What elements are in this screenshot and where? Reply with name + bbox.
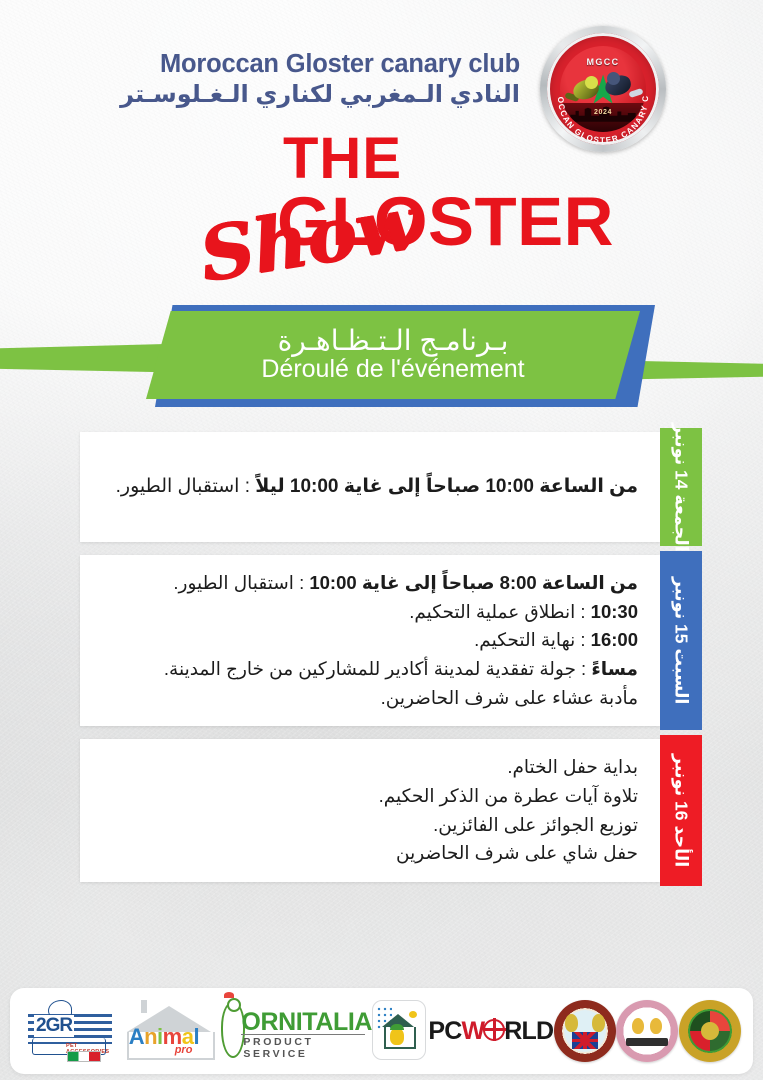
club-name-arabic: النادي الـمغربي لكناري الـغـلوسـتر	[120, 80, 520, 109]
program-banner: بـرنامـج الـتـظـاهـرة Déroulé de l'événe…	[0, 297, 763, 413]
pethouse-dog-icon	[390, 1028, 404, 1045]
animal-letter: n	[144, 1024, 157, 1049]
banner-title-arabic: بـرنامـج الـتـظـاهـرة	[278, 326, 509, 355]
animal-letter: l	[193, 1024, 199, 1049]
schedule-card: من الساعة 8:00 صباحاً إلى غاية 10:00 : ا…	[80, 555, 660, 726]
schedule-line-bold: 16:00	[591, 629, 638, 650]
schedule-line-bold: مساءً	[591, 658, 638, 679]
schedule-card: من الساعة 10:00 صباحاً إلى غاية 10:00 لي…	[80, 432, 660, 542]
schedule-line: 16:00 : نهاية التحكيم.	[106, 626, 638, 655]
ornitalia-crest-icon	[224, 992, 234, 998]
ornitalia-wordmark: ORNITALIA	[241, 1008, 372, 1037]
schedule-line-rest: تلاوة آيات عطرة من الذكر الحكيم.	[379, 785, 638, 806]
schedule-line: بداية حفل الختام.	[106, 753, 638, 782]
schedule-line: تلاوة آيات عطرة من الذكر الحكيم.	[106, 782, 638, 811]
poster-canvas: Moroccan Gloster canary club النادي الـم…	[0, 0, 763, 1080]
banner-title-french: Déroulé de l'événement	[261, 356, 524, 384]
schedule-line-rest: : انطلاق عملية التحكيم.	[409, 601, 590, 622]
schedule-row: من الساعة 10:00 صباحاً إلى غاية 10:00 لي…	[80, 432, 702, 542]
schedule-line: مأدبة عشاء على شرف الحاضرين.	[106, 684, 638, 713]
sponsor-pethouse-logo	[368, 998, 428, 1064]
schedule-day-label: السبت 15 نونبر	[671, 577, 692, 704]
ornitalia-sub-text: PRODUCT SERVICE	[243, 1036, 367, 1060]
uk-gloster-club-badge-icon	[554, 1000, 616, 1062]
pcworld-pc-text: PC	[428, 1017, 461, 1045]
animal-sub-text: pro	[175, 1044, 193, 1056]
sponsor-bar: 2GR PET ACCESSORIES Animal pro ORNITALIA…	[10, 988, 753, 1074]
pink-canary-club-badge-icon	[616, 1000, 678, 1062]
schedule-line: مساءً : جولة تفقدية لمدينة أكادير للمشار…	[106, 655, 638, 684]
schedule-line-rest: مأدبة عشاء على شرف الحاضرين.	[381, 687, 638, 708]
pcworld-wordmark: PCWRLD	[428, 1017, 553, 1046]
pethouse-cap-icon	[390, 1024, 404, 1030]
schedule-list: من الساعة 10:00 صباحاً إلى غاية 10:00 لي…	[80, 432, 702, 895]
schedule-day-tab: السبت 15 نونبر	[660, 551, 702, 730]
logo-arc-label: MOROCCAN GLOSTER CANARY CLUB	[540, 26, 650, 145]
schedule-day-tab: الجمعة 14 نونبر	[660, 428, 702, 546]
animal-letter: A	[129, 1024, 144, 1049]
title-show-script: Show	[196, 185, 425, 293]
schedule-line-rest: : نهاية التحكيم.	[474, 629, 591, 650]
sponsor-uk-club-badge	[554, 998, 616, 1064]
schedule-line: توزيع الجوائز على الفائزين.	[106, 811, 638, 840]
sponsor-gold-club-badge	[679, 998, 741, 1064]
2gr-wordmark: 2GR	[34, 1015, 74, 1037]
schedule-row: بداية حفل الختام. تلاوة آيات عطرة من الذ…	[80, 739, 702, 882]
poster-title: THE GLOSTER Show	[0, 130, 763, 285]
schedule-line-bold: من الساعة 8:00 صباحاً إلى غاية 10:00	[309, 572, 638, 593]
schedule-line-rest: : استقبال الطيور.	[116, 476, 256, 497]
schedule-day-tab: الأحد 16 نونبر	[660, 735, 702, 886]
schedule-line-rest: توزيع الجوائز على الفائزين.	[433, 814, 638, 835]
schedule-day-label: الجمعة 14 نونبر	[671, 423, 692, 552]
schedule-line: من الساعة 10:00 صباحاً إلى غاية 10:00 لي…	[106, 472, 638, 501]
schedule-line: 10:30 : انطلاق عملية التحكيم.	[106, 598, 638, 627]
italy-flag-icon	[67, 1051, 101, 1062]
schedule-row: من الساعة 8:00 صباحاً إلى غاية 10:00 : ا…	[80, 555, 702, 726]
schedule-line-bold: من الساعة 10:00 صباحاً إلى غاية 10:00 لي…	[255, 476, 638, 497]
schedule-card: بداية حفل الختام. تلاوة آيات عطرة من الذ…	[80, 739, 660, 882]
gold-canary-club-badge-icon	[679, 1000, 741, 1062]
schedule-line: حفل شاي على شرف الحاضرين	[106, 839, 638, 868]
schedule-line-rest: : استقبال الطيور.	[173, 572, 309, 593]
pcworld-orld-text: RLD	[504, 1017, 553, 1045]
banner-green-shape: بـرنامـج الـتـظـاهـرة Déroulé de l'événe…	[146, 311, 640, 399]
club-name-english: Moroccan Gloster canary club	[160, 50, 520, 79]
svg-text:MOROCCAN GLOSTER CANARY CLUB: MOROCCAN GLOSTER CANARY CLUB	[540, 26, 650, 145]
pcworld-w-text: W	[462, 1017, 485, 1045]
schedule-line-bold: 10:30	[591, 601, 638, 622]
schedule-line-rest: بداية حفل الختام.	[507, 756, 638, 777]
sponsor-animal-pro-logo: Animal pro	[119, 998, 219, 1064]
schedule-line-rest: : جولة تفقدية لمدينة أكادير للمشاركين من…	[164, 658, 591, 679]
schedule-line-rest: حفل شاي على شرف الحاضرين	[396, 842, 638, 863]
schedule-day-label: الأحد 16 نونبر	[671, 754, 692, 867]
sponsor-pink-club-badge	[616, 998, 678, 1064]
schedule-line: من الساعة 8:00 صباحاً إلى غاية 10:00 : ا…	[106, 569, 638, 598]
sponsor-2gr-logo: 2GR PET ACCESSORIES	[22, 998, 118, 1064]
globe-icon	[483, 1019, 505, 1041]
sponsor-pcworld-logo: PCWRLD	[429, 998, 553, 1064]
title-the: THE	[283, 130, 402, 188]
sponsor-ornitalia-logo: ORNITALIA PRODUCT SERVICE	[219, 998, 367, 1064]
